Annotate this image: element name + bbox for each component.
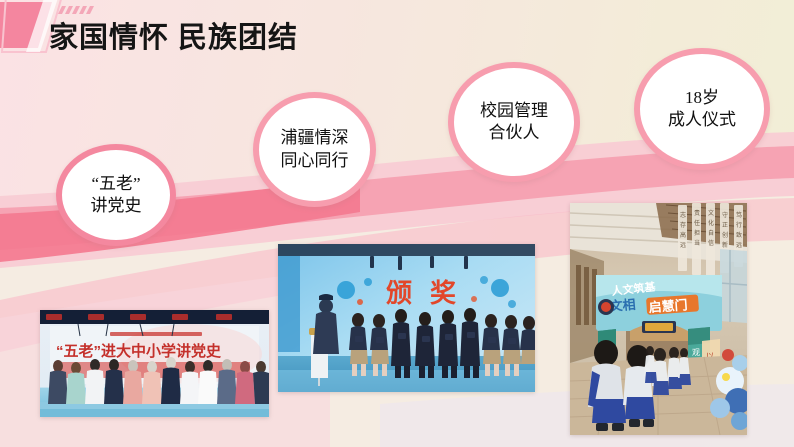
bubble-wulao[interactable]: “五老” 讲党史 (56, 144, 176, 246)
svg-text:自: 自 (708, 229, 714, 237)
svg-text:当: 当 (694, 239, 700, 247)
photo-qihui-gate[interactable]: 志存高远 责任担当 文化自信 守正创新 笃行致远 (570, 203, 747, 435)
svg-text:化: 化 (708, 219, 714, 227)
svg-text:远: 远 (680, 241, 686, 249)
svg-text:新: 新 (722, 241, 728, 249)
pink-dash-deco (56, 3, 100, 13)
photo-award-ceremony[interactable]: 颁 奖 (278, 244, 535, 392)
svg-text:正: 正 (722, 222, 728, 229)
svg-text:担: 担 (694, 229, 700, 237)
svg-text:行: 行 (736, 221, 742, 229)
bubble-xiaoyuan-line1: 校园管理 (480, 100, 548, 122)
svg-text:存: 存 (680, 221, 686, 229)
slide-canvas: 家国情怀 民族团结 “五老” 讲党史 浦疆情深 同心同行 校园管理 合伙人 18… (0, 0, 794, 447)
svg-text:笃: 笃 (736, 211, 742, 219)
bubble-xiaoyuan-line2: 合伙人 (489, 122, 540, 144)
svg-text:任: 任 (694, 219, 700, 227)
svg-text:远: 远 (736, 241, 742, 249)
svg-text:责: 责 (694, 209, 700, 217)
bubble-wulao-line1: “五老” (91, 173, 140, 195)
svg-text:奖: 奖 (430, 278, 457, 308)
svg-text:观: 观 (692, 348, 700, 357)
bubble-chengren-line2: 成人仪式 (668, 109, 736, 131)
bubble-xiaoyuan[interactable]: 校园管理 合伙人 (448, 62, 580, 182)
svg-text:高: 高 (680, 231, 686, 239)
page-title: 家国情怀 民族团结 (49, 14, 298, 56)
bubble-chengren[interactable]: 18岁 成人仪式 (634, 48, 770, 170)
bubble-wulao-line2: 讲党史 (91, 195, 142, 217)
svg-text:“五老”进大中小学讲党史: “五老”进大中小学讲党史 (56, 342, 222, 360)
svg-text:颁: 颁 (386, 278, 412, 308)
svg-text:文: 文 (708, 209, 714, 217)
svg-text:信: 信 (708, 239, 714, 247)
bubble-chengren-line1: 18岁 (685, 87, 719, 109)
svg-text:启慧门: 启慧门 (648, 297, 688, 315)
svg-text:致: 致 (736, 231, 742, 239)
bubble-pujiang-line1: 浦疆情深 (281, 127, 349, 149)
bubble-pujiang[interactable]: 浦疆情深 同心同行 (253, 92, 376, 207)
photo-wulao-group[interactable]: “五老”进大中小学讲党史 (40, 310, 269, 417)
svg-text:志: 志 (680, 211, 686, 219)
bubble-pujiang-line2: 同心同行 (281, 150, 349, 172)
svg-text:守: 守 (722, 211, 728, 219)
svg-text:创: 创 (722, 231, 728, 239)
